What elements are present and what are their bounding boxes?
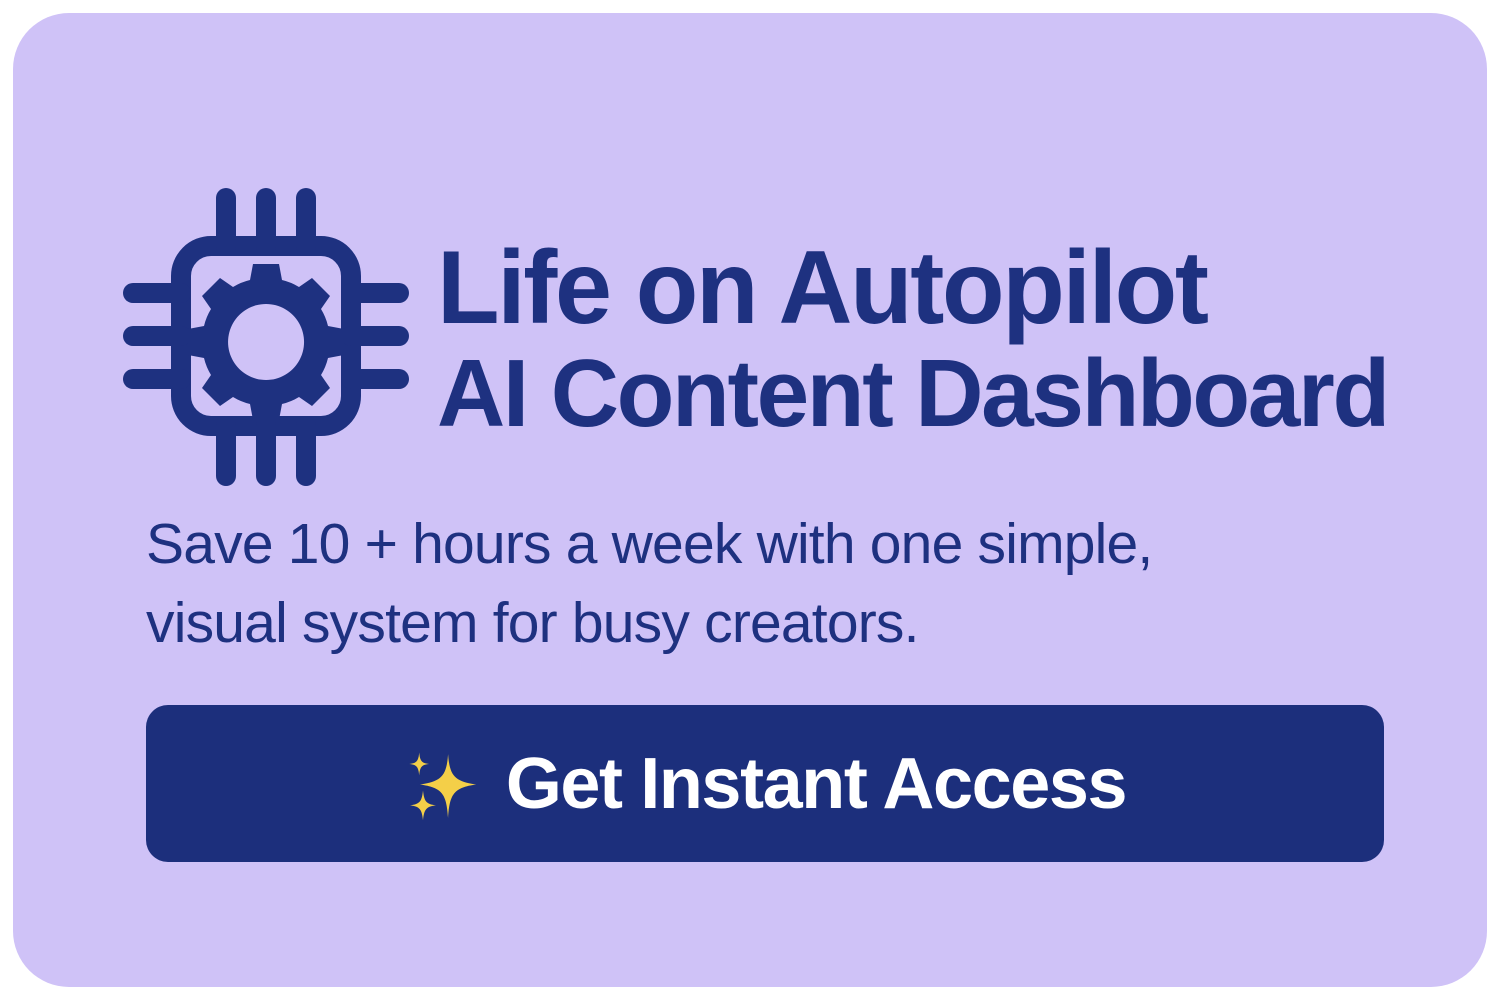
sparkles-icon xyxy=(404,748,480,824)
subheading-line-2: visual system for busy creators. xyxy=(146,584,1386,663)
cpu-chip-gear-icon xyxy=(121,186,411,486)
gear-glyph xyxy=(188,264,344,420)
headline-block: Life on Autopilot AI Content Dashboard xyxy=(437,229,1411,443)
headline-line-1: Life on Autopilot xyxy=(437,235,1396,341)
get-instant-access-button[interactable]: Get Instant Access xyxy=(146,705,1384,862)
subheading: Save 10 + hours a week with one simple, … xyxy=(146,505,1386,662)
subheading-line-1: Save 10 + hours a week with one simple, xyxy=(146,505,1386,584)
header-row: Life on Autopilot AI Content Dashboard xyxy=(121,181,1411,491)
headline-line-2: AI Content Dashboard xyxy=(437,345,1396,443)
promo-card: Life on Autopilot AI Content Dashboard S… xyxy=(13,13,1487,987)
cta-button-label: Get Instant Access xyxy=(506,743,1126,825)
